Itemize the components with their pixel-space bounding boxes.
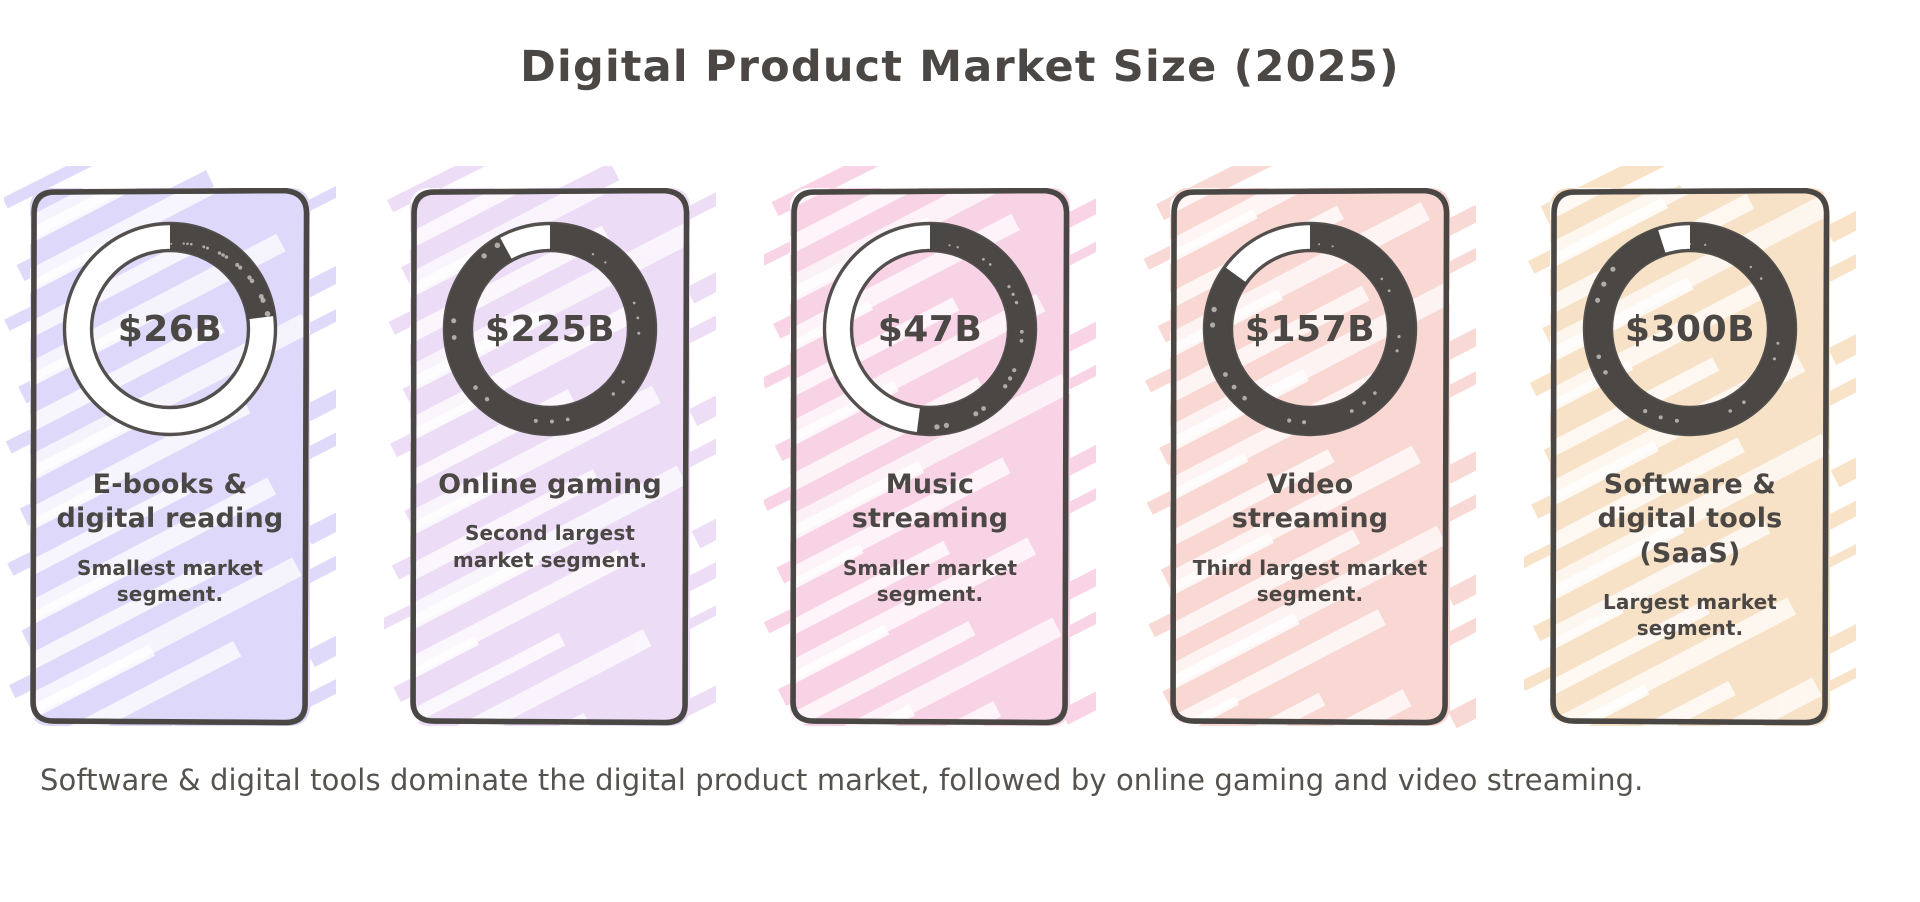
metric-card-list: $26B E-books & digital reading Smallest … — [30, 188, 1895, 726]
metric-note: Smallest market segment. — [50, 555, 290, 608]
metric-value: $26B — [57, 216, 283, 442]
metric-note: Third largest market segment. — [1190, 555, 1430, 608]
metric-card: $26B E-books & digital reading Smallest … — [30, 188, 310, 726]
progress-donut: $26B — [57, 216, 283, 442]
metric-note: Smaller market segment. — [810, 555, 1050, 608]
metric-label: E-books & digital reading — [45, 468, 295, 537]
progress-donut: $300B — [1577, 216, 1803, 442]
metric-value: $225B — [437, 216, 663, 442]
metric-label: Software & digital tools (SaaS) — [1565, 468, 1815, 571]
infographic-root: Digital Product Market Size (2025) $26B … — [0, 0, 1920, 902]
metric-value: $47B — [817, 216, 1043, 442]
page-title: Digital Product Market Size (2025) — [0, 42, 1920, 92]
metric-label: Music streaming — [805, 468, 1055, 537]
progress-donut: $47B — [817, 216, 1043, 442]
metric-note: Largest market segment. — [1570, 589, 1810, 642]
summary-caption: Software & digital tools dominate the di… — [40, 762, 1720, 799]
metric-card: $225B Online gaming Second largest marke… — [410, 188, 690, 726]
metric-label: Video streaming — [1185, 468, 1435, 537]
metric-card: $47B Music streaming Smaller market segm… — [790, 188, 1070, 726]
metric-card: $300B Software & digital tools (SaaS) La… — [1550, 188, 1830, 726]
metric-value: $157B — [1197, 216, 1423, 442]
progress-donut: $157B — [1197, 216, 1423, 442]
metric-note: Second largest market segment. — [430, 520, 670, 573]
metric-label: Online gaming — [438, 468, 662, 502]
progress-donut: $225B — [437, 216, 663, 442]
metric-card: $157B Video streaming Third largest mark… — [1170, 188, 1450, 726]
metric-value: $300B — [1577, 216, 1803, 442]
